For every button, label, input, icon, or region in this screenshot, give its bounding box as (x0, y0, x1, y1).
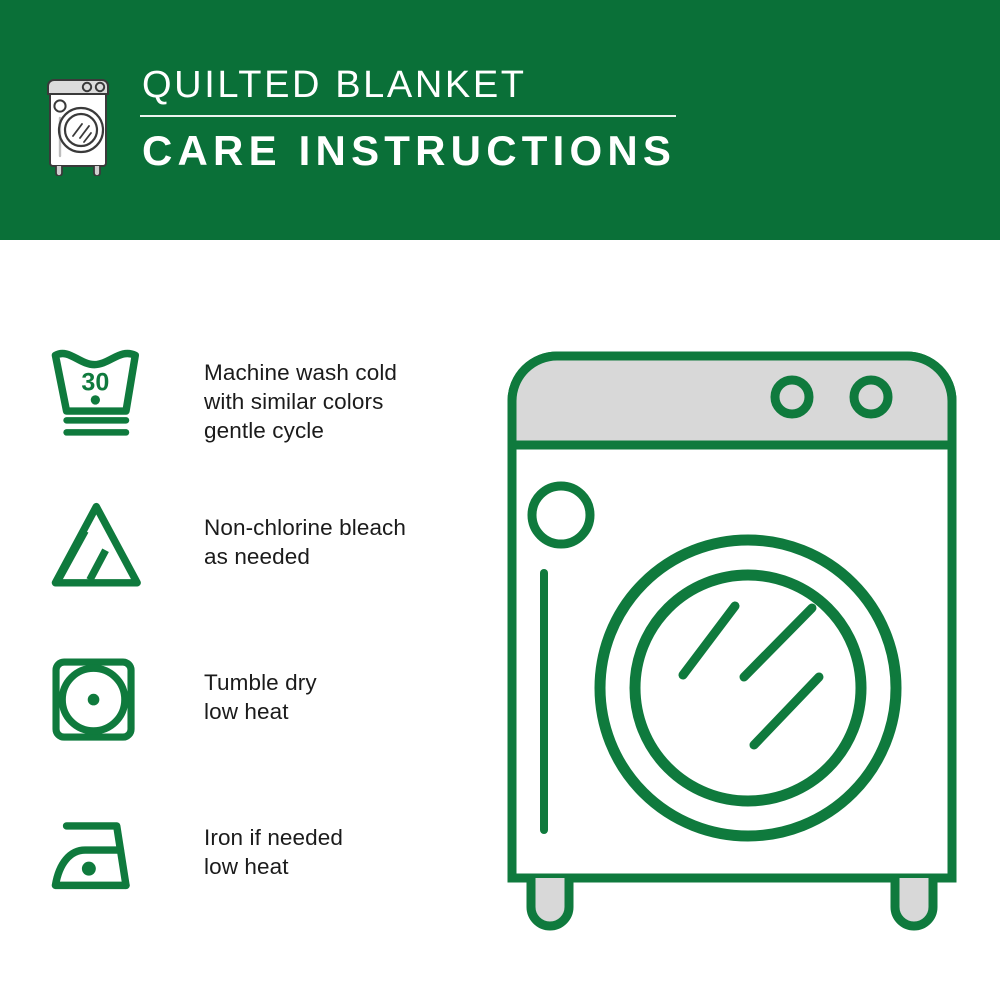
care-line: Iron if needed (204, 823, 343, 852)
leg-right (895, 878, 933, 926)
care-instructions-infographic: QUILTED BLANKET CARE INSTRUCTIONS 30 (0, 0, 1000, 1000)
care-row-iron: Iron if needed low heat (48, 803, 478, 958)
care-text-tumble-dry: Tumble dry low heat (160, 648, 317, 726)
header-band: QUILTED BLANKET CARE INSTRUCTIONS (0, 0, 1000, 240)
page-title-secondary: CARE INSTRUCTIONS (140, 126, 676, 176)
header-titles: QUILTED BLANKET CARE INSTRUCTIONS (140, 62, 676, 176)
care-line: low heat (204, 852, 343, 881)
title-divider (140, 115, 676, 117)
care-line: Non-chlorine bleach (204, 513, 406, 542)
page-title-primary: QUILTED BLANKET (140, 62, 676, 108)
non-chlorine-bleach-symbol (48, 493, 160, 596)
care-instruction-list: 30 Machine wash cold with similar colors… (48, 338, 478, 958)
iron-low-heat-symbol (48, 803, 160, 906)
tumble-dry-low-heat-symbol (48, 648, 160, 747)
care-row-tumble-dry: Tumble dry low heat (48, 648, 478, 803)
washing-machine-icon (44, 70, 122, 176)
care-text-machine-wash: Machine wash cold with similar colors ge… (160, 338, 397, 445)
care-text-bleach: Non-chlorine bleach as needed (160, 493, 406, 571)
care-row-machine-wash: 30 Machine wash cold with similar colors… (48, 338, 478, 493)
care-row-bleach: Non-chlorine bleach as needed (48, 493, 478, 648)
care-line: Tumble dry (204, 668, 317, 697)
care-line: as needed (204, 542, 406, 571)
leg-left (531, 878, 569, 926)
care-line: low heat (204, 697, 317, 726)
machine-wash-30-gentle-symbol: 30 (48, 338, 160, 441)
care-line: with similar colors (204, 387, 397, 416)
care-line: gentle cycle (204, 416, 397, 445)
wash-temperature-label: 30 (81, 369, 109, 397)
header-content: QUILTED BLANKET CARE INSTRUCTIONS (44, 62, 676, 176)
care-text-iron: Iron if needed low heat (160, 803, 343, 881)
care-line: Machine wash cold (204, 358, 397, 387)
front-load-washing-machine-illustration (486, 330, 978, 940)
